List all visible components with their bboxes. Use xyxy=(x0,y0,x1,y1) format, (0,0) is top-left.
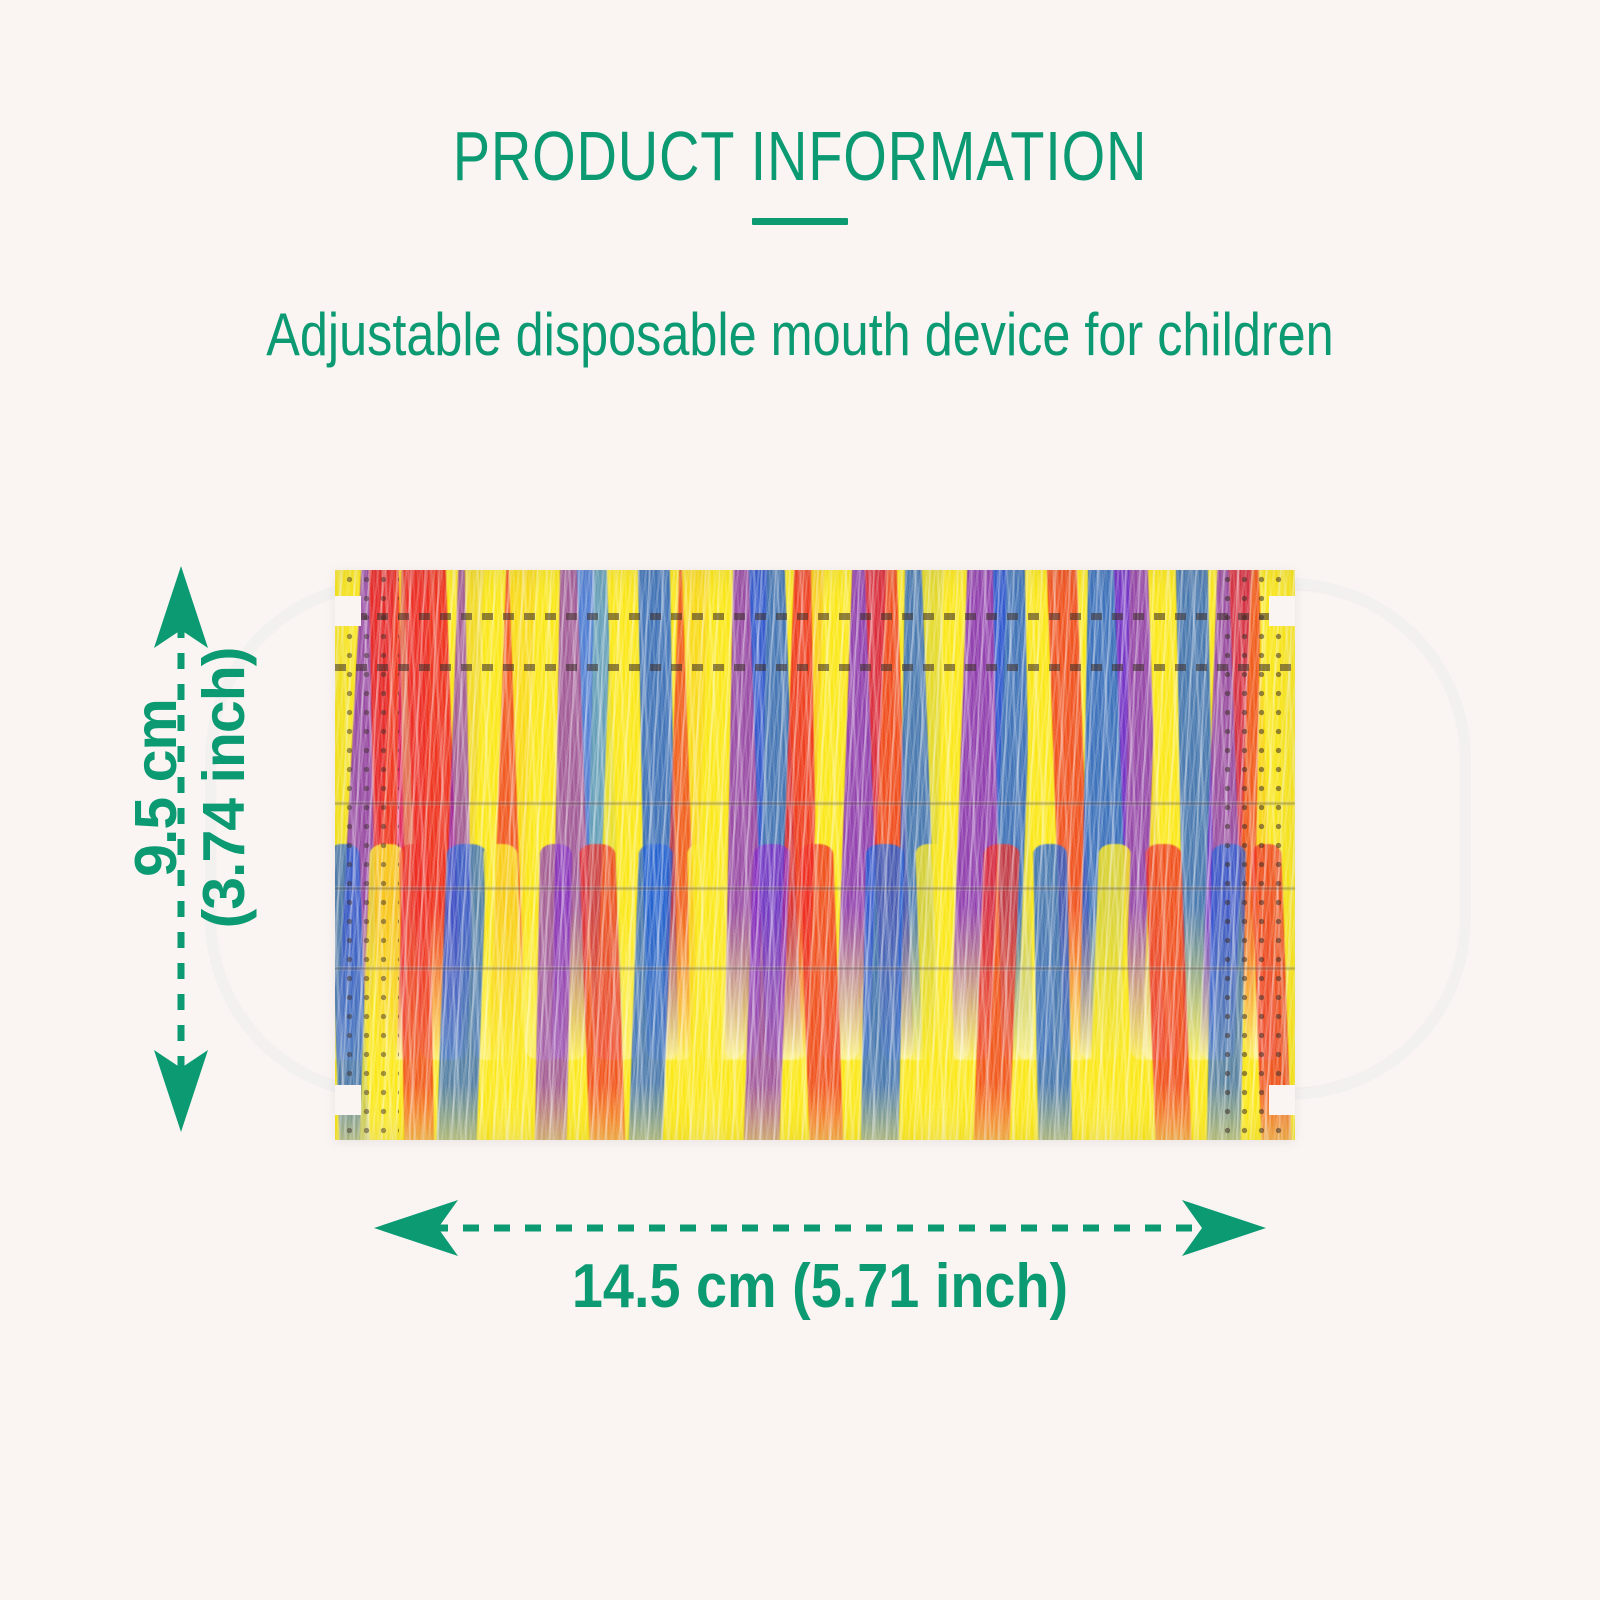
width-arrow-right-icon xyxy=(1182,1200,1266,1256)
notch-bottom-left xyxy=(335,1085,361,1115)
edge-shading xyxy=(335,570,1295,1140)
ear-loop-right xyxy=(1280,578,1471,1100)
title-divider xyxy=(752,218,848,225)
notch-top-right xyxy=(1269,596,1295,626)
notch-bottom-right xyxy=(1269,1085,1295,1115)
height-value-cm: 9.5 cm xyxy=(123,699,189,877)
height-value-inch: (3.74 inch) xyxy=(191,648,257,929)
width-arrow-left-icon xyxy=(374,1200,458,1256)
face-mask-illustration xyxy=(175,540,1520,1180)
height-dimension-label: 9.5 cm (3.74 inch) xyxy=(122,558,258,1018)
width-dimension-label: 14.5 cm (5.71 inch) xyxy=(433,1252,1207,1322)
product-information-graphic: PRODUCT INFORMATION Adjustable disposabl… xyxy=(0,0,1600,1600)
page-title: PRODUCT INFORMATION xyxy=(160,118,1440,194)
page-subtitle: Adjustable disposable mouth device for c… xyxy=(128,302,1472,368)
mask-body xyxy=(335,570,1295,1140)
notch-top-left xyxy=(335,596,361,626)
